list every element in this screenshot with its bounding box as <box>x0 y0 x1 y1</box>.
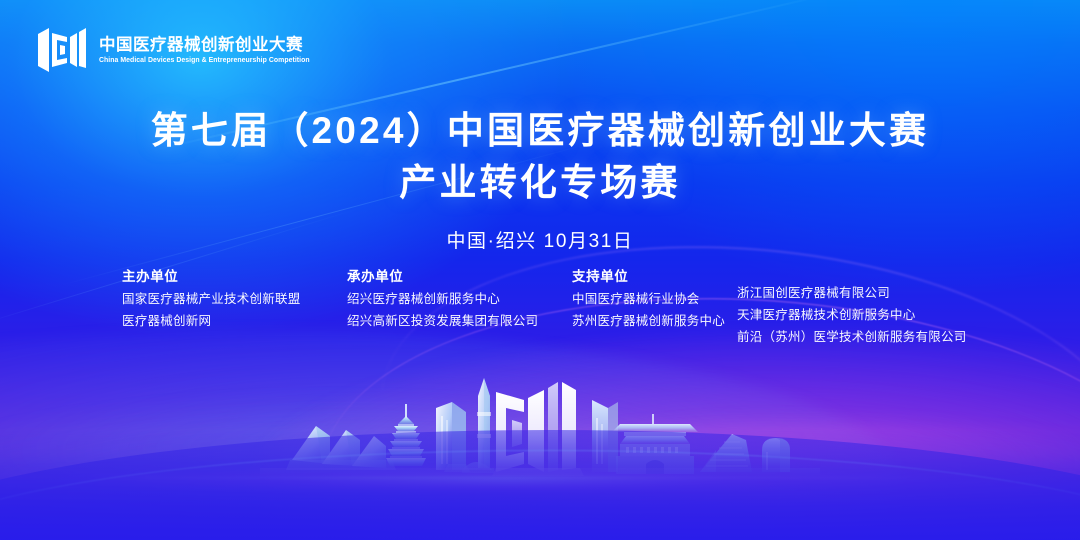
ground-sheen <box>0 450 1080 540</box>
glass-tower-landmark <box>592 400 618 472</box>
organizer-item: 中国医疗器械行业协会 <box>572 293 737 306</box>
magenta-light-band <box>360 420 1080 540</box>
stepped-pyramid-landmark <box>700 434 752 472</box>
organizer-item: 绍兴高新区投资发展集团有限公司 <box>347 315 572 328</box>
city-skyline-illustration <box>0 368 1080 498</box>
twin-tower-landmark <box>436 402 470 472</box>
organizers-section: 主办单位 国家医疗器械产业技术创新联盟 医疗器械创新网 承办单位 绍兴医疗器械创… <box>0 265 1080 353</box>
header-logo: 中国医疗器械创新创业大赛 China Medical Devices Desig… <box>36 26 318 74</box>
opera-house-landmark <box>286 426 396 470</box>
horizon-glow <box>0 462 1080 498</box>
magenta-light-band <box>250 330 1080 540</box>
page-title-line-2: 产业转化专场赛 <box>0 159 1080 206</box>
spire-tower-landmark <box>462 378 494 473</box>
horizon-line <box>90 477 990 479</box>
column-heading: 承办单位 <box>347 265 572 285</box>
organizer-item: 绍兴医疗器械创新服务中心 <box>347 293 572 306</box>
page-title-line-1: 第七届（2024）中国医疗器械创新创业大赛 <box>0 108 1080 155</box>
light-arc <box>35 347 1045 540</box>
column-heading: 支持单位 <box>572 265 737 285</box>
ground-plane <box>0 430 1080 540</box>
organizer-column-supporter-extra: 浙江国创医疗器械有限公司 天津医疗器械技术创新服务中心 前沿（苏州）医学技术创新… <box>737 265 1007 353</box>
blue-light-band <box>0 330 900 540</box>
logo-chinese-name: 中国医疗器械创新创业大赛 <box>99 36 318 54</box>
organizer-item: 医疗器械创新网 <box>122 315 347 328</box>
organizer-column-organizer: 承办单位 绍兴医疗器械创新服务中心 绍兴高新区投资发展集团有限公司 <box>347 265 572 353</box>
logo-english-name: China Medical Devices Design & Entrepren… <box>99 56 310 64</box>
event-location-date: 中国·绍兴 10月31日 <box>0 226 1080 253</box>
blue-light-band <box>0 395 850 540</box>
pagoda-landmark <box>386 404 426 466</box>
organizer-item: 苏州医疗器械创新服务中心 <box>572 315 737 328</box>
competition-emblem-icon <box>36 26 88 74</box>
foreground-fade <box>0 430 1080 540</box>
organizer-item: 浙江国创医疗器械有限公司 <box>737 287 1007 300</box>
dome-building-landmark <box>762 438 790 472</box>
organizer-column-host: 主办单位 国家医疗器械产业技术创新联盟 医疗器械创新网 <box>122 265 347 353</box>
organizer-column-supporter: 支持单位 中国医疗器械行业协会 苏州医疗器械创新服务中心 <box>572 265 737 353</box>
poster-canvas: 中国医疗器械创新创业大赛 China Medical Devices Desig… <box>0 0 1080 540</box>
organizer-item: 前沿（苏州）医学技术创新服务有限公司 <box>737 331 1007 344</box>
central-emblem-landmark <box>492 382 584 476</box>
logo-text-block: 中国医疗器械创新创业大赛 China Medical Devices Desig… <box>99 36 318 64</box>
organizer-item: 天津医疗器械技术创新服务中心 <box>737 309 1007 322</box>
light-arc <box>363 211 1080 540</box>
title-block: 第七届（2024）中国医疗器械创新创业大赛 产业转化专场赛 中国·绍兴 10月3… <box>0 108 1080 253</box>
gate-tower-landmark <box>612 414 698 474</box>
column-heading: 主办单位 <box>122 265 347 285</box>
organizer-item: 国家医疗器械产业技术创新联盟 <box>122 293 347 306</box>
skyline-svg <box>0 368 1080 498</box>
